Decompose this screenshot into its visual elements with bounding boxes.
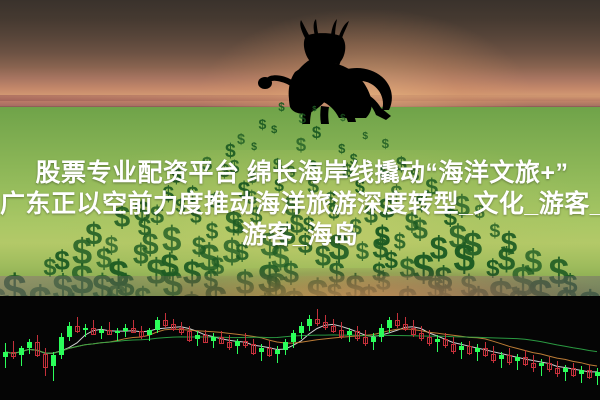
candle [282,296,289,400]
candle [10,296,17,400]
candle-body [219,337,224,345]
candle-body [147,330,152,336]
candle [594,296,600,400]
dollar-sign-icon: $ [237,133,245,147]
candle-wick [117,328,118,341]
candle-body [267,348,272,356]
candle-wick [437,335,438,352]
candle-body [123,328,128,332]
dollar-sign-icon: $ [271,125,277,136]
headline-line-2: 广东正以空前力度推动海洋旅游深度转型_文化_游客_海 [0,189,600,220]
candle-wick [517,354,518,371]
dollar-sign-icon: $ [278,102,284,114]
candle [586,296,593,400]
candle-body [331,326,336,332]
candle [554,296,561,400]
candle-body [323,322,328,328]
candle-body [171,324,176,330]
candle-body [595,372,600,376]
candle [306,296,313,400]
candle [418,296,425,400]
candle-body [483,348,488,356]
candle [490,296,497,400]
candle-wick [197,331,198,346]
candle-body [3,352,8,358]
candlestick-stock-chart [0,296,600,400]
dollar-sign-icon: $ [338,142,345,155]
headline-block: 股票专业配资平台 绵长海岸线撬动“海洋文旅+” 广东正以空前力度推动海洋旅游深度… [0,158,600,251]
candle-wick [349,328,350,343]
candle [362,296,369,400]
candle [266,296,273,400]
candle [578,296,585,400]
candle [434,296,441,400]
dollar-sign-icon: $ [312,105,316,113]
candle-body [203,335,208,343]
candle [346,296,353,400]
candle [50,296,57,400]
candle-body [539,363,544,367]
candle-body [515,357,520,361]
candle-body [459,346,464,350]
candle-wick [261,344,262,361]
candle-body [251,344,256,353]
candle-body [347,331,352,335]
dollar-sign-icon: $ [340,114,345,124]
candle-body [395,320,400,326]
candle [114,296,121,400]
candle [66,296,73,400]
candle [274,296,281,400]
candle [202,296,209,400]
candle [506,296,513,400]
candle [42,296,49,400]
candle-body [187,331,192,340]
candle [482,296,489,400]
candle-body [155,320,160,329]
candle [354,296,361,400]
candle [410,296,417,400]
candle [330,296,337,400]
candle-body [211,337,216,341]
candle-body [139,331,144,337]
candle-body [11,352,16,358]
candle-body [227,342,232,348]
candle-body [579,370,584,374]
dollar-sign-icon: $ [259,117,267,131]
candle [290,296,297,400]
candle-body [491,354,496,362]
candle-body [259,348,264,352]
candle-wick [501,352,502,369]
candle [314,296,321,400]
headline-line-3: 游客_海岛 [0,220,600,251]
candle [370,296,377,400]
candle-body [99,330,104,334]
candle [538,296,545,400]
candle [522,296,529,400]
candle [378,296,385,400]
candle-body [291,333,296,342]
candle-body [451,344,456,352]
candle [26,296,33,400]
candle [394,296,401,400]
candle-body [363,337,368,345]
candle-body [59,337,64,355]
candle-body [427,337,432,345]
candle [234,296,241,400]
candle [442,296,449,400]
candle [322,296,329,400]
candle-wick [213,333,214,348]
candle-body [419,333,424,339]
candle-body [435,339,440,343]
dollar-sign-icon: $ [299,112,307,126]
candle-body [475,348,480,352]
candle [402,296,409,400]
candle-body [411,328,416,336]
candle [474,296,481,400]
candle-body [379,328,384,337]
candle-wick [597,368,598,385]
candle-body [51,355,56,366]
candle [210,296,217,400]
dollar-sign-icon: $ [251,142,257,153]
dollar-sign-icon: $ [296,136,306,155]
headline-line-1: 股票专业配资平台 绵长海岸线撬动“海洋文旅+” [4,158,600,189]
candle [170,296,177,400]
candle [562,296,569,400]
candle [98,296,105,400]
candle-wick [277,346,278,363]
candle [298,296,305,400]
candle [546,296,553,400]
candle [530,296,537,400]
candle-body [499,355,504,359]
candle [338,296,345,400]
image-canvas: $$$$$$$$$$$$$$$$$$$$$$$$$$$$$$$$$$$$$$$$… [0,0,600,400]
candle-wick [541,359,542,376]
candle-body [275,350,280,354]
candle-body [43,354,48,369]
candle-body [27,342,32,348]
dollar-sign-icon: $ [382,137,389,150]
candle-body [531,363,536,369]
candle-body [563,368,568,372]
candle [162,296,169,400]
candle [18,296,25,400]
candle [178,296,185,400]
candle-body [283,342,288,349]
candle-body [443,339,448,347]
candle [186,296,193,400]
candle [82,296,89,400]
candle-body [307,319,312,326]
candle-body [19,348,24,355]
candle [58,296,65,400]
candle-body [371,337,376,343]
candle-wick [461,342,462,359]
candle [250,296,257,400]
candle [466,296,473,400]
dollar-sign-icon: $ [312,125,321,142]
candle-body [75,326,80,332]
candle-body [571,368,576,376]
candle-body [91,328,96,336]
dollar-sign-icon: $ [362,132,368,142]
candle [34,296,41,400]
candle-wick [565,365,566,382]
candle [74,296,81,400]
candle [570,296,577,400]
candle-body [107,330,112,336]
candle [226,296,233,400]
candle [90,296,97,400]
candle-body [587,370,592,378]
candle [2,296,9,400]
candle-body [315,319,320,325]
candle [146,296,153,400]
candle-body [523,357,528,365]
candle-body [355,331,360,339]
candle-body [467,346,472,354]
candle [514,296,521,400]
candle-body [131,328,136,334]
candle-wick [85,324,86,337]
candle-body [179,328,184,334]
candle-body [403,324,408,330]
candle [426,296,433,400]
candle [122,296,129,400]
candle [242,296,249,400]
candle-body [83,328,88,330]
candle-wick [477,344,478,361]
candle-body [35,342,40,355]
candle-body [555,368,560,374]
candle [258,296,265,400]
candle-body [235,341,240,347]
candle-body [243,341,248,347]
candle [458,296,465,400]
candle-body [195,335,200,339]
candle [130,296,137,400]
candle [138,296,145,400]
candle-body [507,355,512,363]
candle [386,296,393,400]
candle-body [67,326,72,337]
candle [218,296,225,400]
candle-body [387,320,392,327]
candle [194,296,201,400]
candle [154,296,161,400]
candle-body [299,326,304,333]
candle-body [115,331,120,333]
candle-wick [581,366,582,383]
candle-body [163,320,168,326]
candle-body [547,363,552,371]
candle [106,296,113,400]
candle-body [339,330,344,338]
candle [450,296,457,400]
candle [498,296,505,400]
